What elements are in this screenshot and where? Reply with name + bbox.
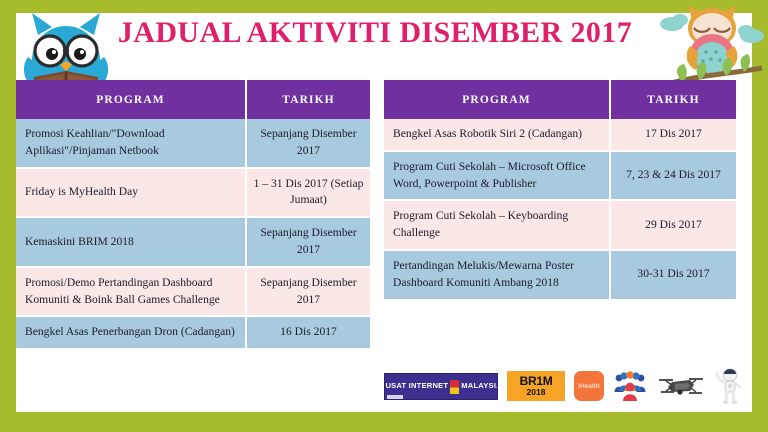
column-header-tarikh: TARIKH <box>610 80 736 119</box>
sponsor-logo-strip: PUSAT INTERNETMALAYSIA malaysia BR1M 201… <box>384 368 752 404</box>
cell-program: Pertandingan Melukis/Mewarna Poster Dash… <box>384 250 610 299</box>
cell-tarikh: 1 – 31 Dis 2017 (Setiap Jumaat) <box>246 168 370 218</box>
cell-tarikh: 30-31 Dis 2017 <box>610 250 736 299</box>
cell-tarikh: 16 Dis 2017 <box>246 316 370 348</box>
cell-program: Promosi/Demo Pertandingan Dashboard Komu… <box>16 267 246 317</box>
cell-program: Friday is MyHealth Day <box>16 168 246 218</box>
poster-frame: JADUAL AKTIVITI DISEMBER 2017 <box>0 0 768 432</box>
pusat-internet-malaysia-logo: PUSAT INTERNETMALAYSIA malaysia <box>384 373 498 400</box>
cell-tarikh: 29 Dis 2017 <box>610 200 736 250</box>
table-row: Program Cuti Sekolah – Microsoft Office … <box>384 151 736 201</box>
table-row: Program Cuti Sekolah – Keyboarding Chall… <box>384 200 736 250</box>
brim-2018-logo: BR1M 2018 <box>507 371 565 401</box>
activity-table-right: PROGRAM TARIKH Bengkel Asas Robotik Siri… <box>384 80 736 299</box>
column-header-tarikh: TARIKH <box>246 80 370 119</box>
table-row: Promosi/Demo Pertandingan Dashboard Komu… <box>16 267 370 317</box>
table-row: Bengkel Asas Penerbangan Dron (Cadangan)… <box>16 316 370 348</box>
table-row: Bengkel Asas Robotik Siri 2 (Cadangan) 1… <box>384 119 736 151</box>
table-row: Pertandingan Melukis/Mewarna Poster Dash… <box>384 250 736 299</box>
cell-program: Bengkel Asas Penerbangan Dron (Cadangan) <box>16 316 246 348</box>
cell-tarikh: Sepanjang Disember 2017 <box>246 267 370 317</box>
cell-tarikh: 17 Dis 2017 <box>610 119 736 151</box>
cell-program: Kemaskini BRIM 2018 <box>16 217 246 267</box>
drone-icon <box>656 373 706 399</box>
cell-program: Promosi Keahlian/"Download Aplikasi"/Pin… <box>16 119 246 168</box>
column-header-program: PROGRAM <box>16 80 246 119</box>
table-row: Promosi Keahlian/"Download Aplikasi"/Pin… <box>16 119 370 168</box>
cell-tarikh: 7, 23 & 24 Dis 2017 <box>610 151 736 201</box>
table-row: Kemaskini BRIM 2018 Sepanjang Disember 2… <box>16 217 370 267</box>
cell-program: Bengkel Asas Robotik Siri 2 (Cadangan) <box>384 119 610 151</box>
humanoid-robot-icon <box>715 368 745 404</box>
komuniti-people-icon <box>613 370 647 402</box>
table-header-row: PROGRAM TARIKH <box>384 80 736 119</box>
table-header-row: PROGRAM TARIKH <box>16 80 370 119</box>
column-header-program: PROGRAM <box>384 80 610 119</box>
brim-wordmark: BR1M <box>520 375 553 387</box>
numeral-one-shape <box>450 380 459 394</box>
table-row: Friday is MyHealth Day 1 – 31 Dis 2017 (… <box>16 168 370 218</box>
cell-program: Program Cuti Sekolah – Keyboarding Chall… <box>384 200 610 250</box>
ihealth-wordmark: iHealth <box>578 383 600 390</box>
pim-sub-label: malaysia <box>387 395 403 399</box>
activity-table-left: PROGRAM TARIKH Promosi Keahlian/"Downloa… <box>16 80 370 348</box>
pim-line2: MALAYSIA <box>461 381 498 390</box>
pim-line1: PUSAT INTERNET <box>384 381 448 390</box>
page-title: JADUAL AKTIVITI DISEMBER 2017 <box>90 18 660 48</box>
cell-tarikh: Sepanjang Disember 2017 <box>246 217 370 267</box>
ihealth-logo: iHealth <box>574 371 604 401</box>
brim-year: 2018 <box>527 387 546 397</box>
cell-tarikh: Sepanjang Disember 2017 <box>246 119 370 168</box>
cell-program: Program Cuti Sekolah – Microsoft Office … <box>384 151 610 201</box>
